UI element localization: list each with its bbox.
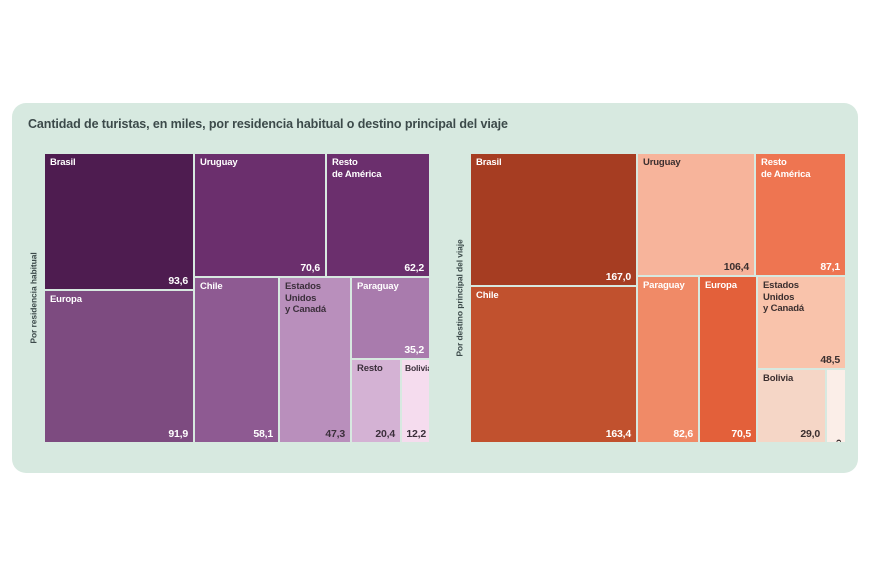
axis-label-destino: Por destino principal del viaje [452,153,468,443]
cell-value: 29,0 [800,428,820,440]
treemap-cell-chile[interactable]: Chile 163,4 [470,286,637,443]
cell-value: 70,6 [300,262,320,274]
treemap-cell-resto-de-america[interactable]: Resto de América 87,1 [755,153,846,276]
cell-label: Estados Unidos y Canadá [285,281,326,316]
treemap-cell-estados-unidos-y-canada[interactable]: Estados Unidos y Canadá 47,3 [279,277,351,443]
treemap-panel-residencia: Por residencia habitual Brasil 93,6 Euro… [22,153,432,443]
treemap-cell-resto[interactable]: Resto 20,4 [351,359,401,443]
treemap-cell-chile[interactable]: Chile 58,1 [194,277,279,443]
cell-value: 12,2 [406,428,426,440]
cell-value: 35,2 [404,344,424,356]
treemap-cell-uruguay[interactable]: Uruguay 70,6 [194,153,326,277]
treemap-cell-europa[interactable]: Europa 70,5 [699,276,757,443]
cell-label: Uruguay [200,157,237,169]
cell-label: Estados Unidos y Canadá [763,280,804,315]
treemap-cell-europa[interactable]: Europa 91,9 [44,290,194,443]
treemap-residencia: Brasil 93,6 Europa 91,9 Uruguay 70,6 Res… [44,153,430,443]
cell-label: Uruguay [643,157,680,169]
treemap-cell-paraguay[interactable]: Paraguay 35,2 [351,277,430,359]
cell-label: Resto de América [332,157,381,180]
cell-value: 82,6 [673,428,693,440]
cell-label: Paraguay [357,281,399,293]
treemap-cell-paraguay[interactable]: Paraguay 82,6 [637,276,699,443]
cell-value: 91,9 [168,428,188,440]
cell-value: 20,4 [375,428,395,440]
cell-value: 87,1 [820,261,840,273]
cell-label: Europa [50,294,82,306]
cell-label: Chile [200,281,222,293]
cell-label: Resto [833,439,845,443]
cell-value: 163,4 [606,428,631,440]
treemap-destino: Brasil 167,0 Chile 163,4 Uruguay 106,4 R… [470,153,846,443]
treemap-cell-bolivia[interactable]: Bolivia 29,0 [757,369,826,443]
treemap-cell-bolivia[interactable]: Bolivia 12,2 [401,359,430,443]
cell-label: Bolivia [763,373,793,385]
cell-label: Bolivia [405,363,430,375]
cell-value: 47,3 [325,428,345,440]
cell-label: Europa [705,280,737,292]
cell-label: Paraguay [643,280,685,292]
cell-value: 93,6 [168,275,188,287]
chart-figure: Cantidad de turistas, en miles, por resi… [12,103,858,473]
cell-label: Chile [476,290,498,302]
cell-label: Brasil [50,157,76,169]
cell-label: Brasil [476,157,502,169]
treemap-cell-resto-de-america[interactable]: Resto de América 62,2 [326,153,430,277]
cell-label: Resto de América [761,157,810,180]
cell-value: 48,5 [820,354,840,366]
chart-title: Cantidad de turistas, en miles, por resi… [28,117,508,131]
treemap-cell-uruguay[interactable]: Uruguay 106,4 [637,153,755,276]
treemap-panel-destino: Por destino principal del viaje Brasil 1… [448,153,848,443]
treemap-cell-brasil[interactable]: Brasil 167,0 [470,153,637,286]
cell-value: 106,4 [724,261,749,273]
cell-label: Resto [357,363,383,375]
treemap-cell-estados-unidos-y-canada[interactable]: Estados Unidos y Canadá 48,5 [757,276,846,369]
treemap-cell-brasil[interactable]: Brasil 93,6 [44,153,194,290]
cell-value: 70,5 [731,428,751,440]
treemap-cell-resto[interactable]: Resto 9,2 [826,369,846,443]
cell-value: 62,2 [404,262,424,274]
cell-value: 167,0 [606,271,631,283]
cell-value: 9,2 [844,373,846,384]
axis-label-residencia: Por residencia habitual [26,153,42,443]
cell-value: 58,1 [253,428,273,440]
